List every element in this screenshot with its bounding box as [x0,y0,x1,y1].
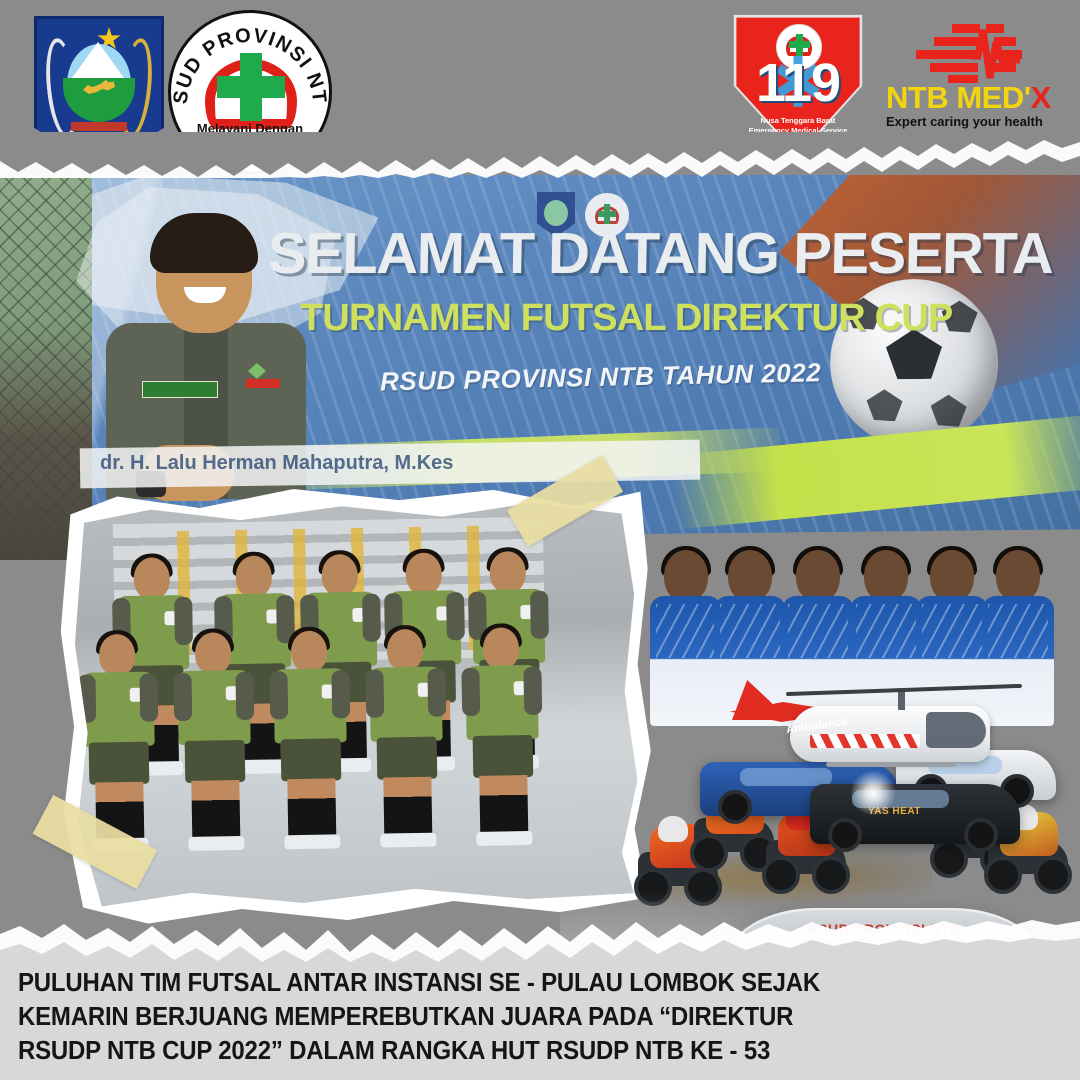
crest-beads-icon [71,122,127,131]
heli-tail-fin [732,680,772,720]
crest-inner: NUSA TENGGARA BARAT [45,26,153,146]
banner-headline: SELAMAT DATANG PESERTA [267,224,968,284]
heli-stripes [810,734,920,748]
ntb-medx-logo-icon: NTB MED'X Expert caring your health [886,22,1066,134]
medx-brand-text: NTB MED' [886,80,1031,115]
emergency-number-text: 119 [728,56,868,110]
caption-band: PULUHAN TIM FUTSAL ANTAR INSTANSI SE - P… [0,962,1080,1080]
heli-rotor-mast [898,690,905,710]
shield-mini-cross-h [789,41,810,48]
heli-skid [826,762,956,767]
heli-cockpit-glass [926,712,986,748]
medx-x-mark: X [1031,80,1051,115]
crest-mountain-icon [72,42,124,78]
rsud-cross-horizontal [217,76,285,98]
medx-text-block: NTB MED'X Expert caring your health [886,82,1066,130]
banner-subheadline: TURNAMEN FUTSAL DIREKTUR CUP [300,298,940,338]
caption-lines: PULUHAN TIM FUTSAL ANTAR INSTANSI SE - P… [18,966,698,1068]
ambulance-helicopter: Ambulance [730,680,1020,790]
team-photo-image [73,497,640,911]
caption-line-1: PULUHAN TIM FUTSAL ANTAR INSTANSI SE - P… [18,966,657,1000]
shield-caption-line1: Nusa Tenggara Barat [736,116,860,126]
photo-collage: SELAMAT DATANG PESERTA TURNAMEN FUTSAL D… [0,140,1080,1020]
medx-brand-row: NTB MED'X [886,82,1066,114]
torn-paper-edge-bottom [0,916,1080,962]
caption-line-3: RSUDP NTB CUP 2022” DALAM RANGKA HUT RSU… [18,1034,657,1068]
torn-paper-edge-top [0,132,1080,178]
rsud-heart-cross-icon [205,53,297,131]
race-car-black: YAS HEAT [810,784,1020,844]
heartbeat-pulse-icon [908,22,1044,84]
caption-line-2: KEMARIN BERJUANG MEMPEREBUTKAN JUARA PAD… [18,1000,657,1034]
poster-canvas: NUSA TENGGARA BARAT RSUD PROVINSI NTB Me… [0,0,1080,1080]
banner-event-year: RSUD PROVINSI NTB TAHUN 2022 [380,357,900,396]
medx-tagline: Expert caring your health [886,114,1066,130]
